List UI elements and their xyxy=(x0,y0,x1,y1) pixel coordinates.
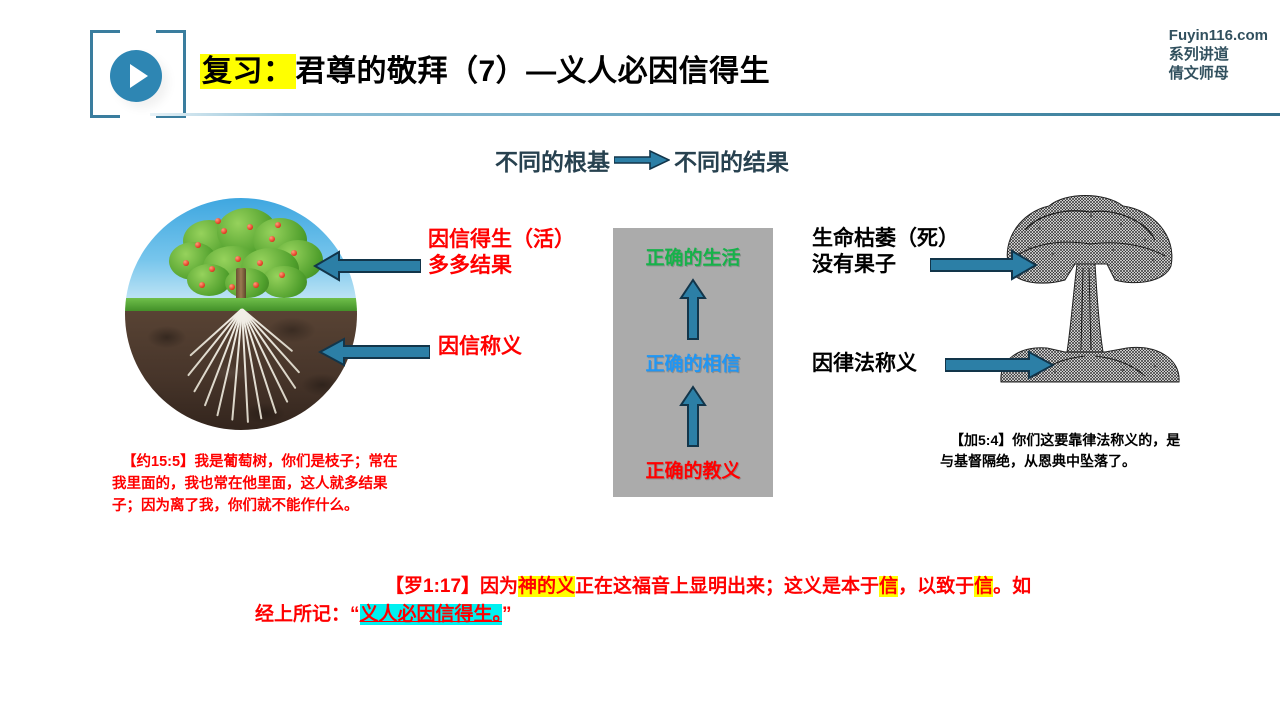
frame-top-right-segment xyxy=(156,30,186,33)
panel-text-right-doctrine: 正确的教义 xyxy=(613,456,773,483)
romans-highlight-faith-2: 信 xyxy=(974,576,993,597)
panel-text-right-living: 正确的生活 xyxy=(613,243,773,270)
frame-right-edge xyxy=(183,30,186,118)
label-live-by-faith: 因信得生（活） 多多结果 xyxy=(428,227,575,280)
header-divider xyxy=(150,113,1280,116)
verse-romans-1-17: 【罗1:17】因为神的义正在这福音上显明出来；这义是本于信，以致于信。如经上所记… xyxy=(255,573,1035,628)
verse-galatians-5-4: 【加5:4】你们这要靠律法称义的，是与基督隔绝，从恩典中坠落了。 xyxy=(940,430,1190,472)
center-gray-panel: 正确的生活 正确的相信 正确的教义 xyxy=(613,228,773,497)
title-highlight: 复习： xyxy=(200,54,296,89)
play-button-frame xyxy=(90,30,186,118)
brand-series: 系列讲道 xyxy=(1169,46,1268,65)
label-justified-by-law: 因律法称义 xyxy=(812,351,917,377)
label-justified-by-faith: 因信称义 xyxy=(438,334,522,360)
slide-canvas: 复习：君尊的敬拜（7）—义人必因信得生 Fuyin116.com 系列讲道 倩文… xyxy=(0,0,1280,720)
apple-tree-with-roots-photo xyxy=(125,198,357,430)
romans-part-1: 【罗1:17】因为 xyxy=(385,576,518,597)
brand-speaker: 倩文师母 xyxy=(1169,65,1268,84)
frame-top-left-segment xyxy=(90,30,120,33)
frame-bottom-left-segment xyxy=(90,115,120,118)
brand-site: Fuyin116.com xyxy=(1169,27,1268,46)
up-arrow-icon-upper xyxy=(679,278,707,340)
subtitle-left-text: 不同的根基 xyxy=(495,143,610,177)
panel-text-right-belief: 正确的相信 xyxy=(613,349,773,376)
label-wither-line1: 生命枯萎（死） xyxy=(812,226,959,252)
right-arrow-icon xyxy=(614,150,670,170)
subtitle-row: 不同的根基 不同的结果 xyxy=(495,143,789,177)
photo-roots xyxy=(125,309,357,430)
play-button-icon[interactable] xyxy=(110,50,162,102)
frame-left-edge xyxy=(90,30,93,118)
left-arrow-icon-live xyxy=(313,250,421,282)
romans-highlight-faith-1: 信 xyxy=(879,576,898,597)
title-rest: 君尊的敬拜（7）—义人必因信得生 xyxy=(296,55,771,88)
romans-part-3: ，以致于 xyxy=(898,576,974,597)
romans-part-5: ” xyxy=(502,604,512,625)
romans-highlight-righteousness: 神的义 xyxy=(518,576,575,597)
label-wither-line2: 没有果子 xyxy=(812,252,959,278)
label-live-line2: 多多结果 xyxy=(428,253,575,279)
romans-highlight-key-phrase: 义人必因信得生。 xyxy=(360,604,503,625)
up-arrow-icon-lower xyxy=(679,385,707,447)
brand-block: Fuyin116.com 系列讲道 倩文师母 xyxy=(1169,27,1268,83)
right-arrow-icon-law xyxy=(945,350,1055,380)
label-live-line1: 因信得生（活） xyxy=(428,227,575,253)
romans-part-2: 正在这福音上显明出来；这义是本于 xyxy=(575,576,879,597)
verse-john-15-5: 【约15:5】我是葡萄树，你们是枝子；常在我里面的，我也常在他里面，这人就多结果… xyxy=(112,452,412,517)
page-title: 复习：君尊的敬拜（7）—义人必因信得生 xyxy=(200,46,770,90)
label-life-withered: 生命枯萎（死） 没有果子 xyxy=(812,226,959,279)
subtitle-right-text: 不同的结果 xyxy=(674,143,789,177)
left-arrow-icon-justified xyxy=(318,337,430,367)
